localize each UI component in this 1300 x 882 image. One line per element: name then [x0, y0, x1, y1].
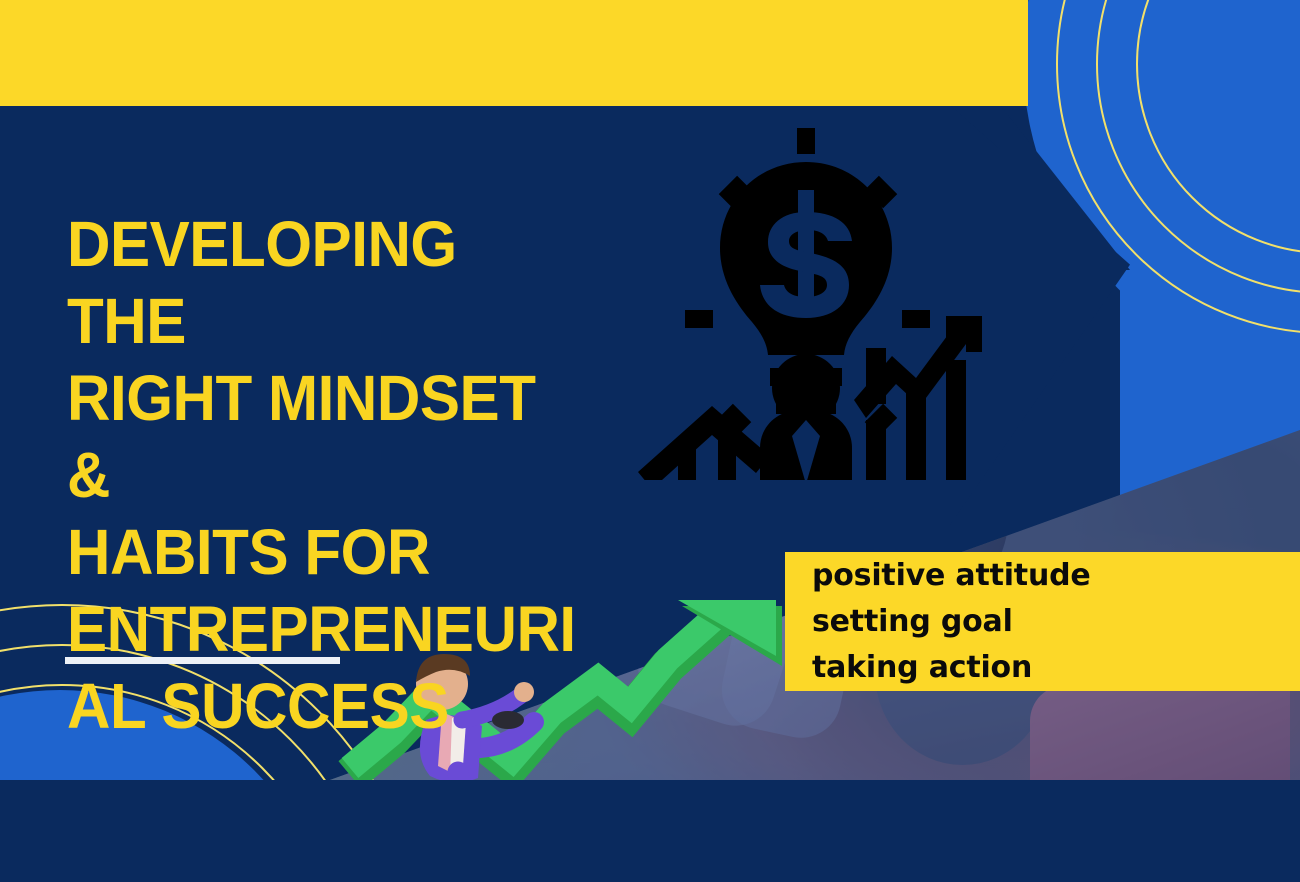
title-line-2: RIGHT MINDSET &	[67, 362, 535, 511]
page-title: DEVELOPING THE RIGHT MINDSET & HABITS FO…	[67, 206, 575, 745]
callout-item-1: positive attitude	[812, 553, 1300, 599]
key-points-callout: positive attitude setting goal taking ac…	[785, 552, 1300, 691]
roof-chart-icon	[638, 406, 770, 480]
bottom-navy-strip	[0, 780, 1300, 882]
title-line-5: AL SUCCESS	[67, 670, 449, 742]
title-line-1: DEVELOPING THE	[67, 208, 457, 357]
title-line-4: ENTREPRENEURI	[67, 593, 576, 665]
bar-chart-icon	[866, 320, 966, 480]
business-icons-group	[630, 120, 990, 480]
poster-canvas: DEVELOPING THE RIGHT MINDSET & HABITS FO…	[0, 0, 1300, 882]
yellow-top-band	[0, 0, 1028, 106]
callout-item-3: taking action	[812, 645, 1300, 691]
title-line-3: HABITS FOR	[67, 516, 430, 588]
callout-item-2: setting goal	[812, 599, 1300, 645]
